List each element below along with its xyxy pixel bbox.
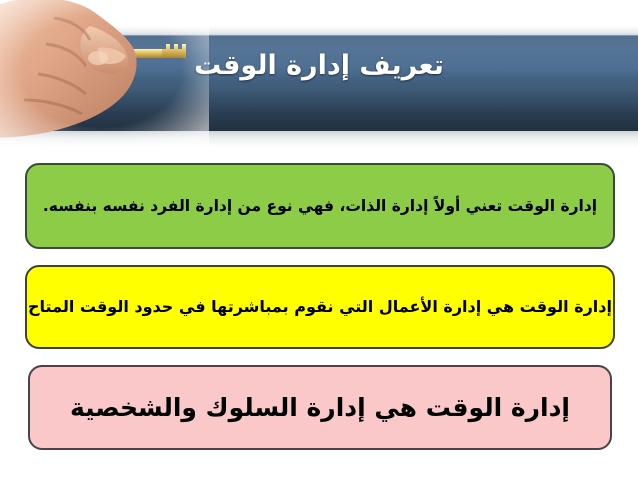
hand-key-icon <box>0 0 209 146</box>
definition-box-yellow: إدارة الوقت هي إدارة الأعمال التي نقوم ب… <box>25 265 615 349</box>
definition-box-pink: إدارة الوقت هي إدارة السلوك والشخصية <box>28 365 612 450</box>
slide-header: تعريف إدارة الوقت <box>0 0 638 150</box>
definition-text-green: إدارة الوقت تعني أولاً إدارة الذات، فهي … <box>43 197 597 216</box>
definition-text-pink: إدارة الوقت هي إدارة السلوك والشخصية <box>70 393 570 423</box>
definition-text-yellow: إدارة الوقت هي إدارة الأعمال التي نقوم ب… <box>28 297 612 316</box>
hand-holding-key-image <box>0 0 209 146</box>
definition-box-green: إدارة الوقت تعني أولاً إدارة الذات، فهي … <box>25 163 615 249</box>
slide-canvas: تعريف إدارة الوقت <box>0 0 638 479</box>
